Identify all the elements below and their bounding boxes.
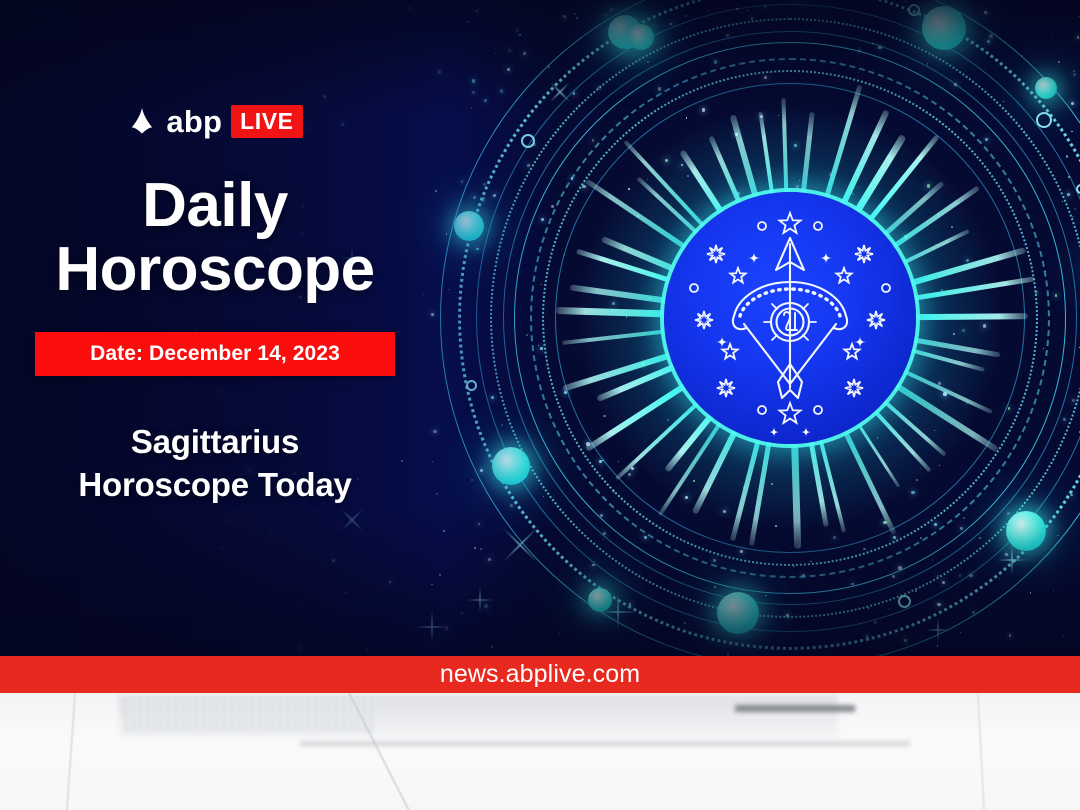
title-line-1: Daily <box>142 171 288 240</box>
headline-column: abp LIVE Daily Horoscope Date: December … <box>0 0 430 656</box>
abp-wordmark: abp <box>166 106 222 137</box>
horoscope-graphic: abp LIVE Daily Horoscope Date: December … <box>0 0 1080 810</box>
sign-subtitle: Sagittarius Horoscope Today <box>78 420 351 507</box>
site-url-bar: news.abplive.com <box>0 656 1080 693</box>
abp-arrow-icon <box>127 106 157 136</box>
date-badge: Date: December 14, 2023 <box>35 332 395 376</box>
live-badge: LIVE <box>231 105 303 138</box>
title-line-2: Horoscope <box>55 238 374 302</box>
sagittarius-bow-icon <box>664 192 916 444</box>
page-title: Daily Horoscope <box>55 174 374 302</box>
blurred-page-background <box>0 693 1080 810</box>
sun-emblem <box>550 78 1030 558</box>
sun-disc <box>664 192 916 444</box>
subtitle-line-1: Sagittarius <box>131 423 299 460</box>
subtitle-line-2: Horoscope Today <box>78 463 351 507</box>
abp-live-logo[interactable]: abp LIVE <box>127 104 302 138</box>
hero-banner: abp LIVE Daily Horoscope Date: December … <box>0 0 1080 656</box>
site-url: news.abplive.com <box>440 660 640 689</box>
wheel-marker-circle <box>1076 184 1080 194</box>
